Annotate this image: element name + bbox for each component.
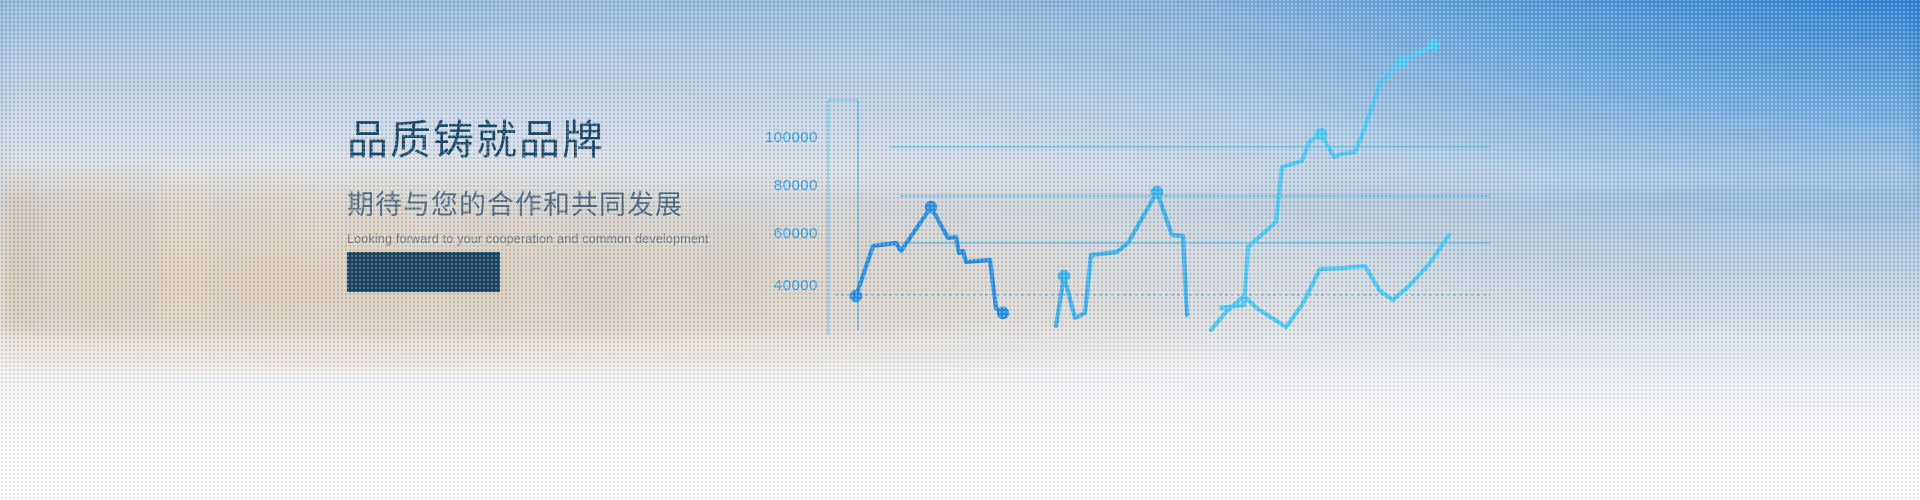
chart-series [850,201,1009,319]
y-tick-label: 60000 [774,225,818,242]
data-point-marker [997,307,1009,319]
y-tick-label: 80000 [774,177,818,194]
banner-copy: 品质铸就品牌 期待与您的合作和共同发展 Looking forward to y… [347,120,777,246]
data-point-marker [1151,186,1163,198]
series-line [856,207,1003,313]
data-point-marker [1058,270,1070,282]
data-point-marker [925,201,937,213]
y-tick-label: 40000 [774,277,818,294]
banner-subtitle: 期待与您的合作和共同发展 [347,192,777,219]
y-tick-label: 100000 [765,129,818,146]
data-point-marker [1315,128,1327,140]
series-line [1056,192,1187,326]
chart-series [1056,186,1187,326]
page-title: 品质铸就品牌 [347,120,777,161]
chart-y-tick-labels: 100000 80000 60000 40000 [765,129,818,294]
data-point-marker [1428,39,1440,51]
chart-series-layer [850,39,1449,330]
data-point-marker [1395,56,1407,68]
chart-gridlines [835,147,1490,295]
chart-svg: 100000 80000 60000 40000 [760,0,1920,500]
banner-tagline: Looking forward to your cooperation and … [347,233,777,246]
line-chart: 100000 80000 60000 40000 [760,0,1920,500]
data-point-marker [850,290,862,302]
cta-button[interactable] [347,252,500,292]
hero-banner: 品质铸就品牌 期待与您的合作和共同发展 Looking forward to y… [0,0,1920,500]
